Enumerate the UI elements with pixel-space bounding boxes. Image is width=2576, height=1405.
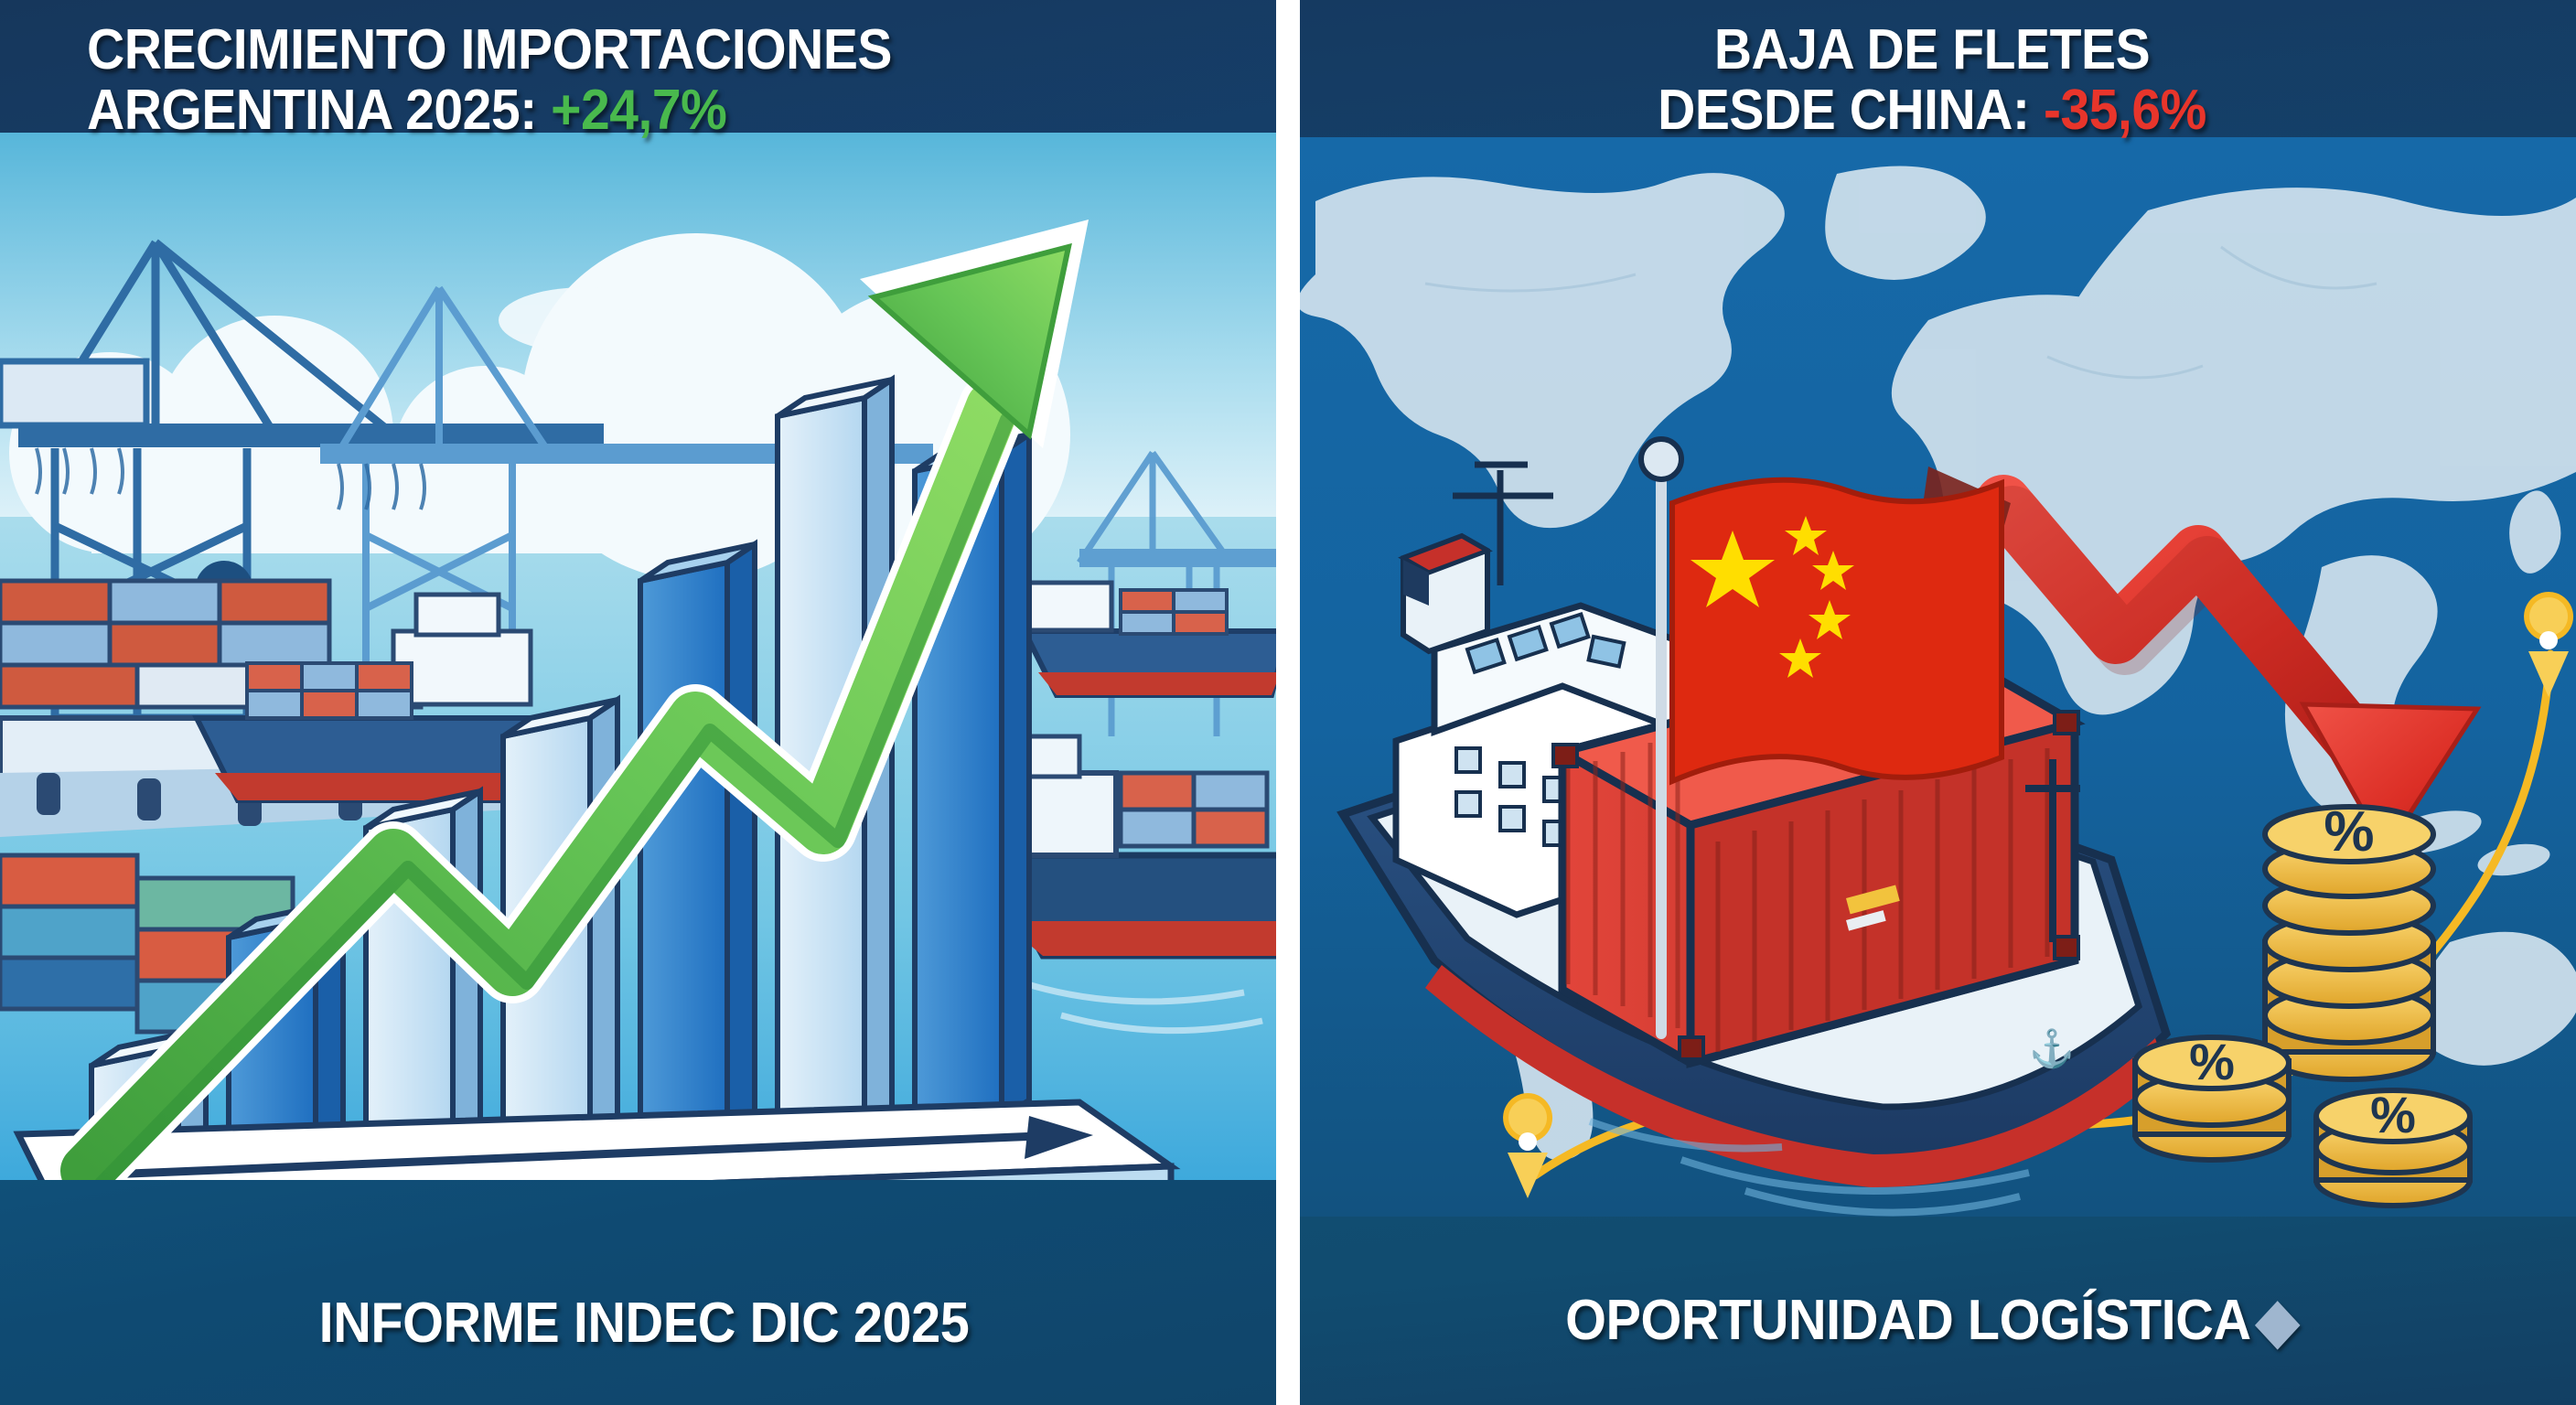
right-headline-line2: DESDE CHINA: -35,6% [1361,80,2503,141]
left-headline-value: +24,7% [551,79,726,142]
left-headline-line2: ARGENTINA 2025: +24,7% [87,80,1215,141]
left-footer: INFORME INDEC DIC 2025 [45,1291,1242,1356]
world-map-freight-illustration: ⚓ [1288,137,2576,1217]
left-headline-prefix: ARGENTINA 2025: [87,79,537,142]
left-illustration [0,133,1288,1180]
diamond-icon: ◆ [2256,1286,2299,1354]
coin-stack-tall: % [2265,800,2433,1079]
percent-symbol: % [2324,800,2374,863]
infographic-root: CRECIMIENTO IMPORTACIONES ARGENTINA 2025… [0,0,2576,1405]
right-footer-label: OPORTUNIDAD LOGÍSTICA [1565,1289,2250,1352]
port-chart-illustration [0,133,1288,1180]
right-headline-line1: BAJA DE FLETES [1361,20,2503,80]
bar-6 [640,544,755,1166]
right-headline: BAJA DE FLETES DESDE CHINA: -35,6% [1339,20,2524,142]
left-headline-line1: CRECIMIENTO IMPORTACIONES [87,20,1215,80]
panel-divider [1276,0,1300,1405]
left-panel: CRECIMIENTO IMPORTACIONES ARGENTINA 2025… [0,0,1288,1405]
percent-symbol: % [2370,1086,2416,1143]
right-illustration: ⚓ [1288,137,2576,1217]
right-footer: OPORTUNIDAD LOGÍSTICA◆ [1333,1285,2530,1356]
right-headline-prefix: DESDE CHINA: [1658,79,2029,142]
right-headline-value: -35,6% [2044,79,2206,142]
coin-stack-left: % [2135,1033,2289,1160]
ship-hull-mark: ⚓ [2029,1027,2075,1069]
percent-symbol: % [2189,1033,2235,1090]
right-panel: ⚓ [1288,0,2576,1405]
left-headline: CRECIMIENTO IMPORTACIONES ARGENTINA 2025… [51,20,1236,142]
coin-stack-front: % [2316,1086,2470,1206]
